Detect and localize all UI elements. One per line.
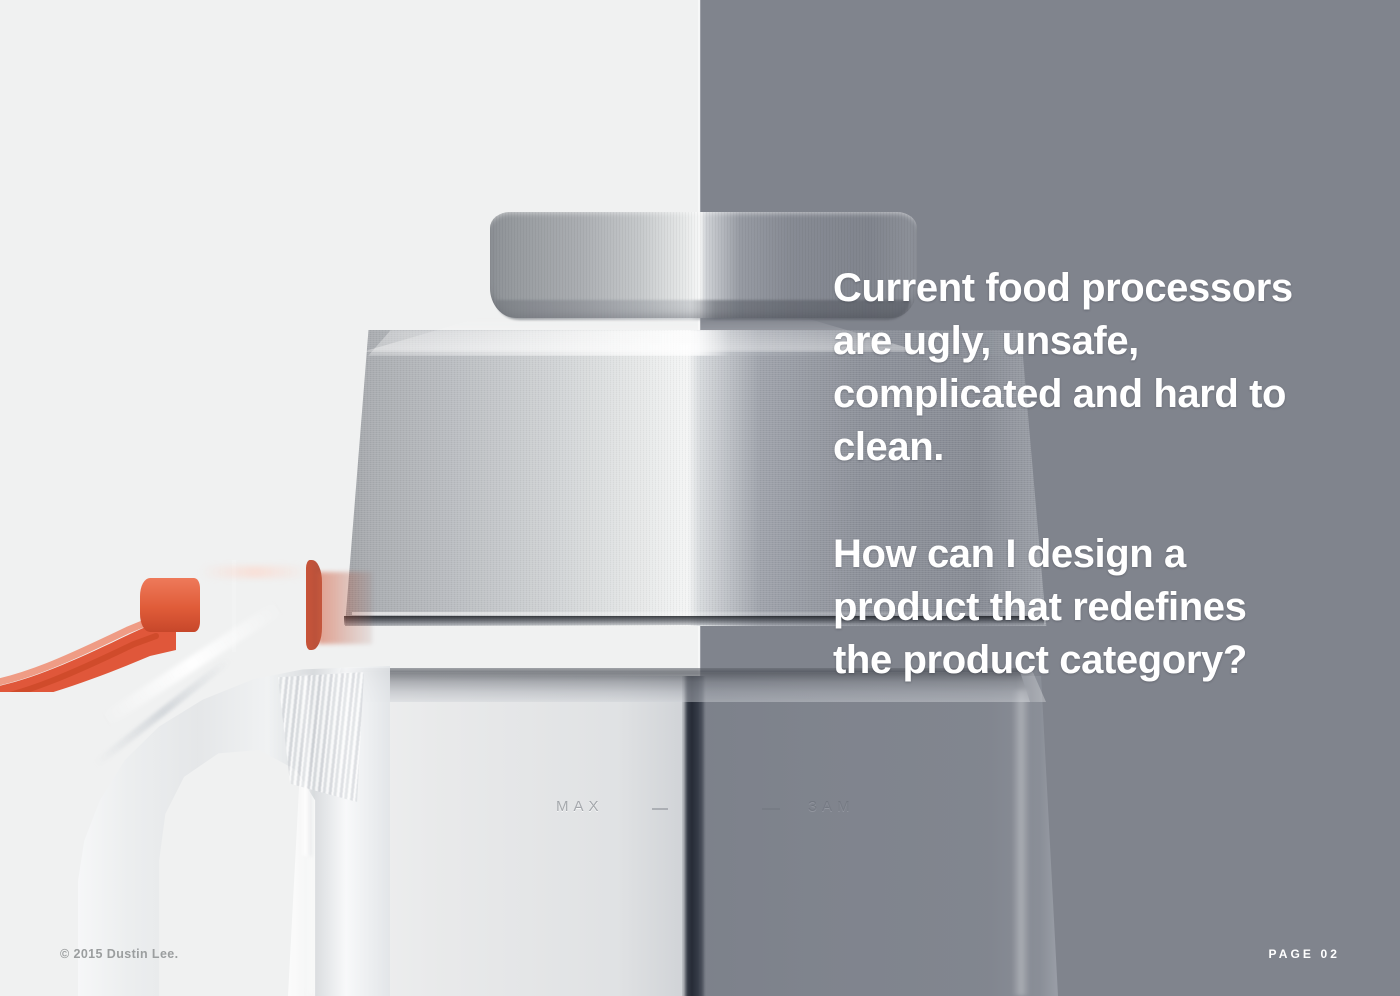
plug-highlight <box>200 566 310 578</box>
page-number: PAGE 02 <box>1269 947 1341 961</box>
copy-paragraph-1: Current food processors are ugly, unsafe… <box>833 262 1303 474</box>
jar-highlight-right <box>1012 690 1030 996</box>
glass-jar <box>288 676 1058 996</box>
plug-socket-shadow <box>318 572 372 644</box>
jar-tick-right <box>762 808 780 810</box>
jar-dark-edge <box>682 676 704 996</box>
copy-paragraph-2: How can I design a product that redefine… <box>833 528 1303 687</box>
copy-paragraph-spacer <box>833 474 1303 528</box>
jar-max-marking: MAX <box>556 798 604 815</box>
presentation-slide: MAX ЗАМ <box>0 0 1400 996</box>
copyright-notice: © 2015 Dustin Lee. <box>60 947 179 961</box>
slide-copy-block: Current food processors are ugly, unsafe… <box>833 262 1303 687</box>
jar-mirrored-marking: ЗАМ <box>808 798 855 815</box>
jar-tick-left <box>652 808 668 810</box>
handle-glass-refraction <box>278 672 364 802</box>
